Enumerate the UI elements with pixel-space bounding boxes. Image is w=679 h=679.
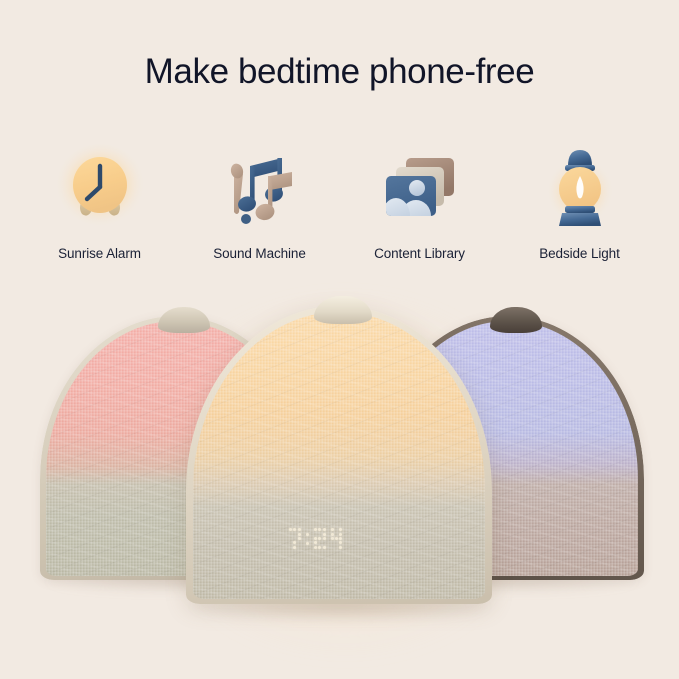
sunrise-alarm-clock-icon (52, 140, 148, 236)
clock-digit-min-ones (331, 528, 343, 549)
feature-label-sunrise-alarm: Sunrise Alarm (58, 246, 141, 261)
top-dial-button-right[interactable] (490, 307, 542, 333)
feature-item-bedside-light[interactable]: Bedside Light (502, 140, 657, 261)
clock-digit-min-tens (314, 528, 326, 549)
clock-colon (306, 528, 309, 549)
feature-label-sound-machine: Sound Machine (213, 246, 306, 261)
feature-item-content-library[interactable]: Content Library (342, 140, 497, 261)
music-notes-icon (212, 140, 308, 236)
clock-display (289, 528, 342, 549)
page-headline: Make bedtime phone-free (0, 52, 679, 92)
clock-digit-hour (289, 528, 301, 549)
product-hero-image (0, 278, 679, 679)
feature-label-bedside-light: Bedside Light (539, 246, 620, 261)
top-dial-button-left[interactable] (158, 307, 210, 333)
lantern-icon (532, 140, 628, 236)
feature-item-sunrise-alarm[interactable]: Sunrise Alarm (22, 140, 177, 261)
feature-list: Sunrise Alarm (0, 140, 679, 261)
top-dial-button-center[interactable] (314, 296, 372, 324)
product-feature-banner: Make bedtime phone-free (0, 0, 679, 679)
feature-item-sound-machine[interactable]: Sound Machine (182, 140, 337, 261)
stacked-cards-people-icon (372, 140, 468, 236)
feature-label-content-library: Content Library (374, 246, 465, 261)
